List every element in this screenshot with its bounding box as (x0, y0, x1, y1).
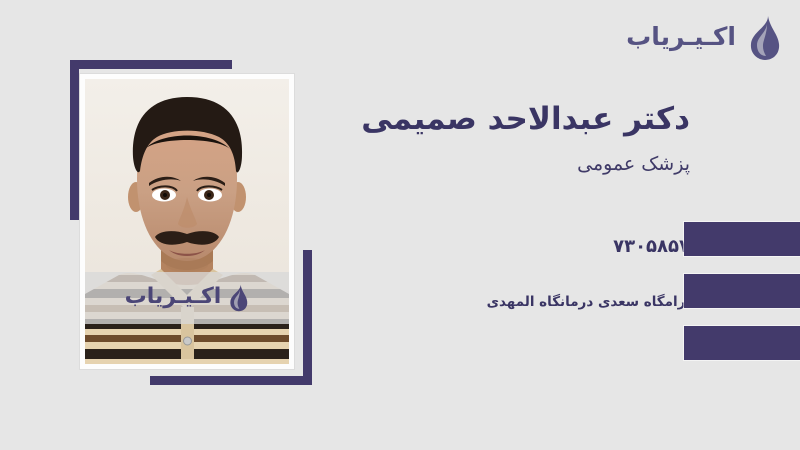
brand-name: اکـیـریاب (626, 24, 736, 53)
doctor-specialty: پزشک عمومی (170, 153, 690, 175)
doctor-name: دکتر عبدالاحد صمیمی (170, 100, 690, 139)
doctor-info: دکتر عبدالاحد صمیمی پزشک عمومی ۷۳۰۵۸۵۷ آ… (170, 100, 690, 175)
frame-bracket-right (303, 250, 312, 385)
doctor-phone[interactable]: ۷۳۰۵۸۵۷ (613, 236, 690, 257)
frame-bracket-bottom (150, 376, 312, 385)
photo-watermark: اکـیـریاب (85, 272, 289, 324)
photo-watermark-text: اکـیـریاب (125, 286, 222, 311)
frame-bracket-top (70, 60, 232, 69)
flame-droplet-icon (742, 15, 782, 61)
decor-bar-2 (684, 274, 800, 308)
decor-bar-3 (684, 326, 800, 360)
profile-card: اکـیـریاب (0, 0, 800, 450)
frame-bracket-left (70, 60, 79, 220)
doctor-address: آرامگاه سعدی درمانگاه المهدی (487, 294, 690, 310)
flame-droplet-icon (225, 283, 249, 313)
decor-bar-1 (684, 222, 800, 256)
brand-logo[interactable]: اکـیـریاب (626, 14, 782, 62)
